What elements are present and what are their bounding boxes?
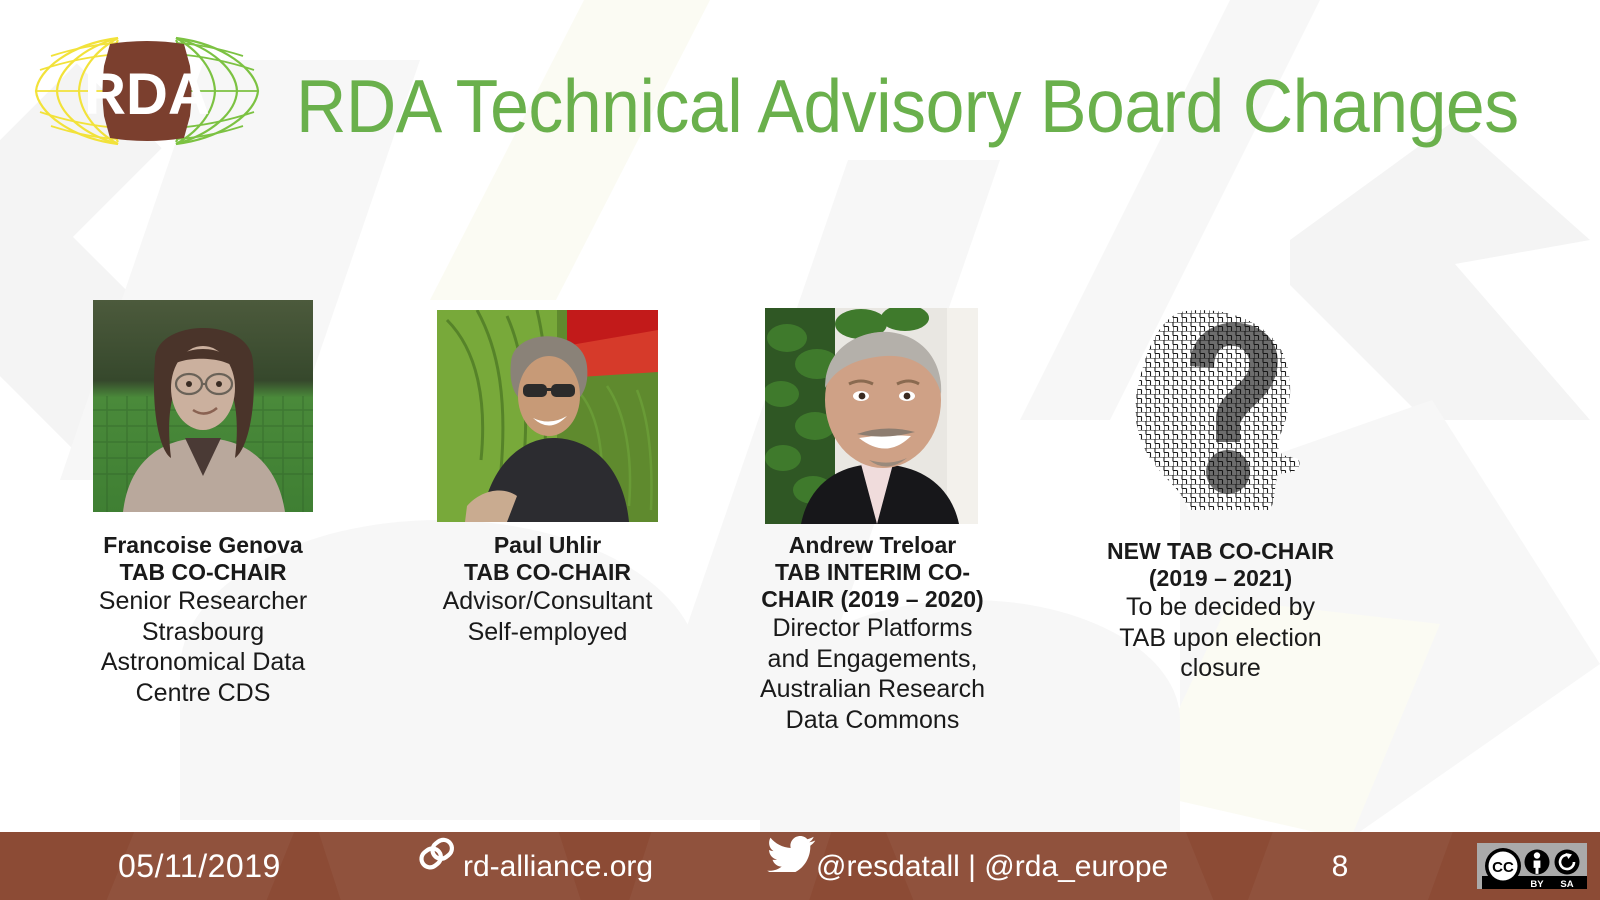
person-name: Francoise Genova xyxy=(73,532,333,559)
footer-website[interactable]: rd-alliance.org xyxy=(463,848,653,886)
logo-text: RDA xyxy=(84,62,210,127)
caption-2: Paul Uhlir TAB CO-CHAIR Advisor/Consulta… xyxy=(415,532,680,647)
person-description: Senior Researcher Strasbourg Astronomica… xyxy=(73,586,333,708)
person-role: TAB CO-CHAIR xyxy=(415,559,680,586)
caption-3: Andrew Treloar TAB INTERIM CO-CHAIR (201… xyxy=(755,532,990,735)
question-mark-head-image xyxy=(1128,304,1314,516)
page-number: 8 xyxy=(1300,848,1380,886)
page-title: RDA Technical Advisory Board Changes xyxy=(296,52,1393,160)
footer-social-handles[interactable]: @resdatall | @rda_europe xyxy=(816,848,1168,886)
cc-sa-text: SA xyxy=(1560,879,1573,889)
person-name: Paul Uhlir xyxy=(415,532,680,559)
photo-andrew-treloar xyxy=(765,308,978,524)
rda-logo: RDA xyxy=(18,26,276,156)
photo-francoise-genova xyxy=(93,300,313,512)
person-name: NEW TAB CO-CHAIR xyxy=(1103,538,1338,565)
caption-1: Francoise Genova TAB CO-CHAIR Senior Res… xyxy=(73,532,333,708)
person-role: TAB INTERIM CO-CHAIR (2019 – 2020) xyxy=(755,559,990,613)
person-role: TAB CO-CHAIR xyxy=(73,559,333,586)
cc-by-text: BY xyxy=(1530,879,1544,889)
slide-canvas: RDA RDA Technical Advisory Board Changes xyxy=(0,0,1600,900)
person-description: To be decided by TAB upon election closu… xyxy=(1103,592,1338,684)
person-description: Director Platforms and Engagements, Aust… xyxy=(755,613,990,735)
person-name: Andrew Treloar xyxy=(755,532,990,559)
creative-commons-badge: CC BY SA xyxy=(1477,843,1587,889)
people-row: Francoise Genova TAB CO-CHAIR Senior Res… xyxy=(0,300,1600,820)
cc-text: CC xyxy=(1492,859,1514,876)
person-role: (2019 – 2021) xyxy=(1103,565,1338,592)
chain-link-icon xyxy=(416,834,458,874)
person-description: Advisor/Consultant Self-employed xyxy=(415,586,680,647)
caption-4: NEW TAB CO-CHAIR (2019 – 2021) To be dec… xyxy=(1103,538,1338,684)
photo-paul-uhlir xyxy=(437,310,658,522)
twitter-bird-icon xyxy=(766,836,816,872)
footer-date: 05/11/2019 xyxy=(118,847,281,885)
